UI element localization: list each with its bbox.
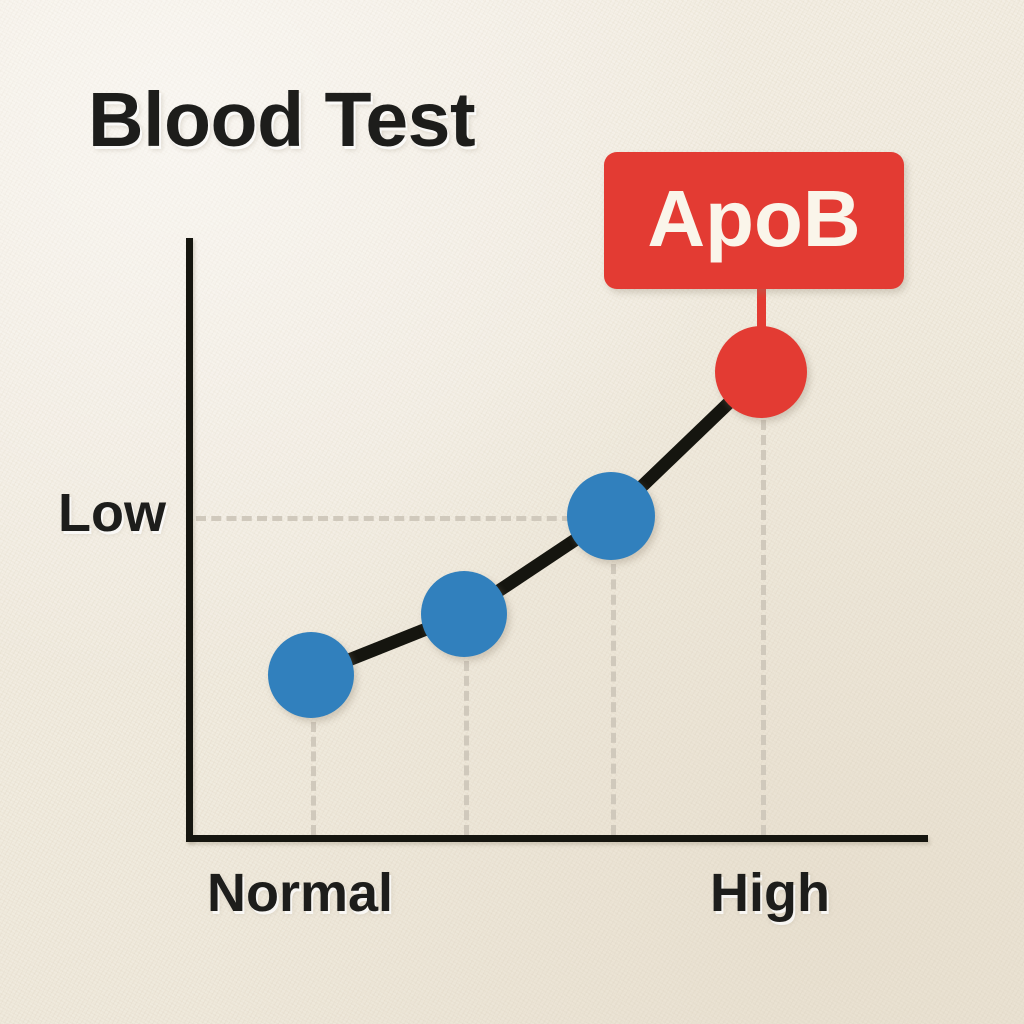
data-point-3[interactable] — [567, 472, 655, 560]
data-point-2[interactable] — [421, 571, 507, 657]
annotation-badge-apob[interactable]: ApoB — [604, 152, 904, 289]
x-axis-tick-label-high: High — [710, 862, 830, 924]
badge-connector-line — [757, 286, 766, 336]
data-point-high[interactable] — [715, 326, 807, 418]
annotation-badge-label: ApoB — [647, 179, 860, 259]
x-axis-tick-label-normal: Normal — [207, 862, 393, 924]
data-point-normal[interactable] — [268, 632, 354, 718]
y-axis-tick-label-low: Low — [58, 482, 166, 544]
chart-canvas: Blood Test ApoB Low Normal High — [0, 0, 1024, 1024]
trend-line — [311, 372, 761, 675]
